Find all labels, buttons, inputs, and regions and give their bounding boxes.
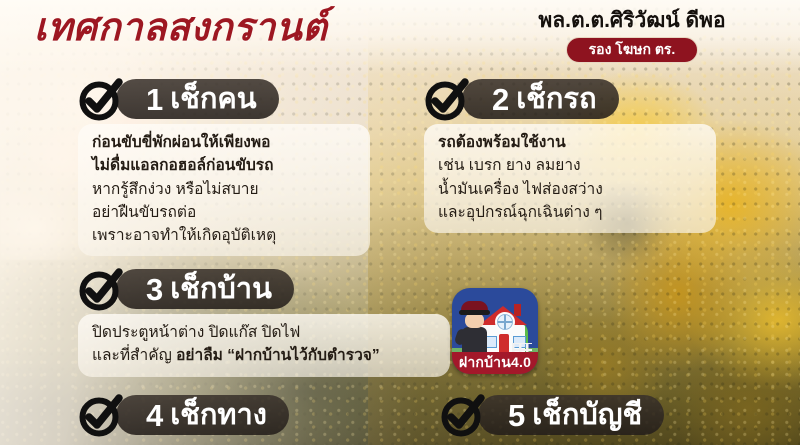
logo-officer-hat-brim — [459, 310, 490, 315]
check-circle-icon — [78, 267, 124, 311]
tip-3-body: ปิดประตูหน้าต่าง ปิดแก๊ส ปิดไฟ และที่สำค… — [78, 314, 450, 377]
logo-round-window-icon — [495, 312, 515, 332]
tip-item-4: 4 เช็กทาง — [78, 394, 378, 436]
tip-3-label: เช็กบ้าน — [170, 275, 272, 304]
tip-5-number: 5 — [508, 400, 525, 431]
check-circle-icon — [78, 77, 124, 121]
tip-2-line-1: รถต้องพร้อมใช้งาน — [438, 131, 702, 154]
tip-2-label: เช็กรถ — [516, 85, 596, 114]
tip-4-pill: 4 เช็กทาง — [116, 395, 289, 435]
tip-2-line-3: น้ำมันเครื่อง ไฟส่องสว่าง — [438, 178, 702, 201]
logo-officer-face — [465, 313, 484, 328]
tip-3-header: 3 เช็กบ้าน — [78, 268, 450, 310]
tip-2-pill: 2 เช็กรถ — [462, 79, 619, 119]
tip-5-label: เช็กบัญชี — [532, 401, 642, 430]
tip-item-3: 3 เช็กบ้าน ปิดประตูหน้าต่าง ปิดแก๊ส ปิดไ… — [78, 268, 450, 377]
tip-3-number: 3 — [146, 274, 163, 305]
tip-3-line-1: ปิดประตูหน้าต่าง ปิดแก๊ส ปิดไฟ — [92, 321, 436, 344]
check-circle-icon — [424, 77, 470, 121]
tip-item-2: 2 เช็กรถ รถต้องพร้อมใช้งาน เช่น เบรก ยาง… — [424, 78, 716, 233]
tip-1-line-4: อย่าฝืนขับรถต่อ — [92, 201, 356, 224]
tip-1-number: 1 — [146, 84, 163, 115]
fakbaan-app-logo: ฝากบ้าน4.0 — [452, 288, 538, 374]
tip-2-header: 2 เช็กรถ — [424, 78, 716, 120]
tip-item-5: 5 เช็กบัญชี — [440, 394, 740, 436]
tip-5-pill: 5 เช็กบัญชี — [478, 395, 664, 435]
poster-root: เทศกาลสงกรานต์ พล.ต.ต.ศิริวัฒน์ ดีพอ รอง… — [0, 0, 800, 445]
tip-2-line-4: และอุปกรณ์ฉุกเฉินต่าง ๆ — [438, 201, 702, 224]
tip-1-line-3: หากรู้สึกง่วง หรือไม่สบาย — [92, 178, 356, 201]
tip-3-line-2: และที่สำคัญ อย่าลืม “ฝากบ้านไว้กับตำรวจ” — [92, 344, 436, 367]
tip-1-label: เช็กคน — [170, 85, 256, 114]
logo-banner-text: ฝากบ้าน4.0 — [452, 352, 538, 374]
tip-1-body: ก่อนขับขี่พักผ่อนให้เพียงพอ ไม่ดื่มแอลกอ… — [78, 124, 370, 256]
check-circle-icon — [78, 393, 124, 437]
tip-1-line-5: เพราะอาจทำให้เกิดอุบัติเหตุ — [92, 224, 356, 247]
tip-3-line-2-text: และที่สำคัญ — [92, 347, 172, 364]
tip-5-header: 5 เช็กบัญชี — [440, 394, 740, 436]
tip-2-body: รถต้องพร้อมใช้งาน เช่น เบรก ยาง ลมยาง น้… — [424, 124, 716, 233]
tip-4-number: 4 — [146, 400, 163, 431]
tip-2-number: 2 — [492, 84, 509, 115]
tip-3-pill: 3 เช็กบ้าน — [116, 269, 294, 309]
tip-item-1: 1 เช็กคน ก่อนขับขี่พักผ่อนให้เพียงพอ ไม่… — [78, 78, 370, 256]
tip-3-line-2-emphasis: อย่าลืม “ฝากบ้านไว้กับตำรวจ” — [176, 347, 380, 364]
check-circle-icon — [440, 393, 486, 437]
tip-1-line-2: ไม่ดื่มแอลกอฮอล์ก่อนขับรถ — [92, 154, 356, 177]
tip-1-line-1: ก่อนขับขี่พักผ่อนให้เพียงพอ — [92, 131, 356, 154]
tip-4-header: 4 เช็กทาง — [78, 394, 378, 436]
tip-4-label: เช็กทาง — [170, 401, 267, 430]
tips-list: 1 เช็กคน ก่อนขับขี่พักผ่อนให้เพียงพอ ไม่… — [0, 0, 800, 445]
tip-1-pill: 1 เช็กคน — [116, 79, 279, 119]
tip-1-header: 1 เช็กคน — [78, 78, 370, 120]
tip-2-line-2: เช่น เบรก ยาง ลมยาง — [438, 154, 702, 177]
